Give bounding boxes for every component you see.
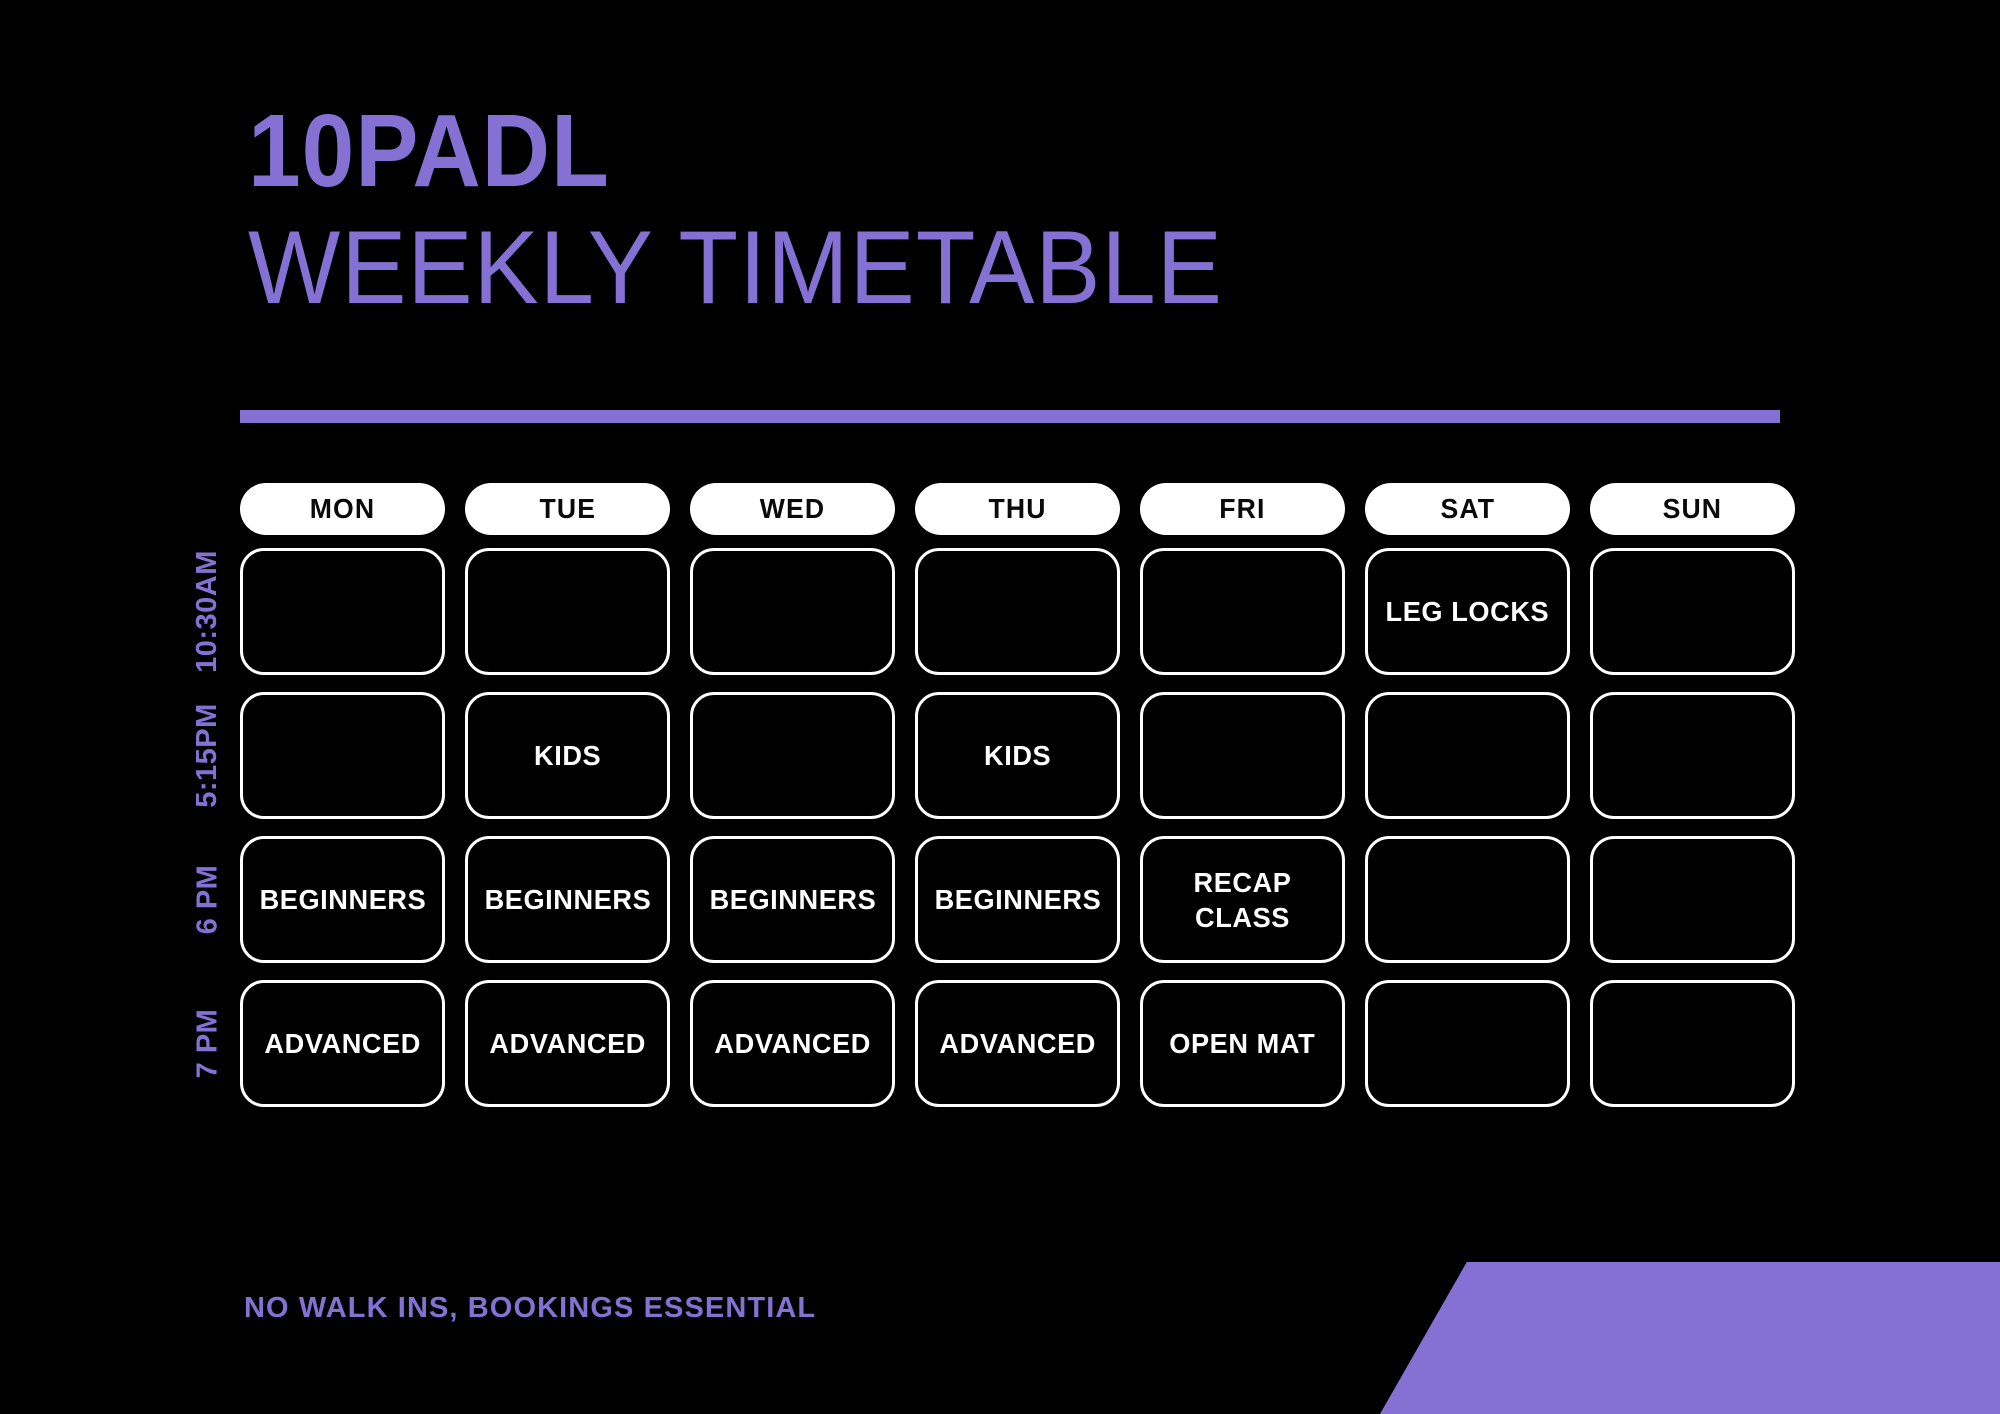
class-slot[interactable]: BEGINNERS (690, 836, 895, 963)
class-slot-label: BEGINNERS (259, 882, 426, 917)
slot-wrap-7pm-sat (1365, 980, 1570, 1107)
class-slot[interactable]: LEG LOCKS (1365, 548, 1570, 675)
day-pill-label-sun: SUN (1663, 493, 1723, 525)
slot-wrap-515pm-sun (1590, 692, 1795, 819)
day-pill-mon[interactable]: MON (240, 483, 445, 535)
day-header-gutter-spacer (175, 483, 240, 535)
class-slot[interactable] (1140, 692, 1345, 819)
class-slot[interactable]: ADVANCED (465, 980, 670, 1107)
time-label-7pm: 7 PM (191, 1009, 224, 1079)
class-slot-label: KIDS (534, 738, 601, 773)
class-slot[interactable]: OPEN MAT (1140, 980, 1345, 1107)
class-slot-label: BEGINNERS (709, 882, 876, 917)
slot-wrap-7pm-mon: ADVANCED (240, 980, 445, 1107)
booking-note: NO WALK INS, BOOKINGS ESSENTIAL (244, 1292, 816, 1325)
class-slot[interactable] (240, 692, 445, 819)
time-gutter-515pm: 5:15PM (175, 692, 240, 819)
day-pill-label-fri: FRI (1219, 493, 1265, 525)
slot-wrap-1030am-sat: LEG LOCKS (1365, 548, 1570, 675)
time-gutter-1030am: 10:30AM (175, 548, 240, 675)
class-slot[interactable] (465, 548, 670, 675)
day-pill-thu[interactable]: THU (915, 483, 1120, 535)
slot-wrap-515pm-tue: KIDS (465, 692, 670, 819)
class-slot[interactable] (1365, 980, 1570, 1107)
day-header-row: MON TUE WED THU (175, 483, 1795, 535)
class-slot-label: BEGINNERS (484, 882, 651, 917)
class-slot[interactable]: BEGINNERS (465, 836, 670, 963)
slot-wrap-7pm-tue: ADVANCED (465, 980, 670, 1107)
slot-wrap-6pm-fri: RECAP CLASS (1140, 836, 1345, 963)
slot-wrap-7pm-sun (1590, 980, 1795, 1107)
day-pill-tue[interactable]: TUE (465, 483, 670, 535)
class-slot[interactable]: KIDS (465, 692, 670, 819)
slot-wrap-6pm-sat (1365, 836, 1570, 963)
class-slot[interactable] (1140, 548, 1345, 675)
timetable-row-7pm: 7 PM ADVANCED ADVANCED ADVANCED (175, 980, 1795, 1107)
day-pill-sat[interactable]: SAT (1365, 483, 1570, 535)
timetable-row-6pm: 6 PM BEGINNERS BEGINNERS BEGINNERS (175, 836, 1795, 963)
slot-wrap-515pm-wed (690, 692, 895, 819)
class-slot[interactable]: BEGINNERS (240, 836, 445, 963)
class-slot[interactable]: BEGINNERS (915, 836, 1120, 963)
slot-wrap-6pm-tue: BEGINNERS (465, 836, 670, 963)
class-slot[interactable] (1590, 980, 1795, 1107)
class-slot-label: RECAP CLASS (1193, 865, 1291, 935)
slot-wrap-6pm-thu: BEGINNERS (915, 836, 1120, 963)
slot-wrap-7pm-wed: ADVANCED (690, 980, 895, 1107)
slot-wrap-7pm-thu: ADVANCED (915, 980, 1120, 1107)
slot-wrap-515pm-sat (1365, 692, 1570, 819)
slot-wrap-7pm-fri: OPEN MAT (1140, 980, 1345, 1107)
day-pill-label-mon: MON (310, 493, 375, 525)
slot-wrap-515pm-mon (240, 692, 445, 819)
class-slot-label: KIDS (984, 738, 1051, 773)
poster-header: 10PADL WEEKLY TIMETABLE (248, 104, 1788, 323)
class-slot[interactable] (1365, 692, 1570, 819)
day-pill-fri[interactable]: FRI (1140, 483, 1345, 535)
day-column-tue: TUE (465, 483, 670, 535)
class-slot-label: LEG LOCKS (1386, 594, 1550, 629)
class-slot[interactable]: ADVANCED (240, 980, 445, 1107)
time-gutter-6pm: 6 PM (175, 836, 240, 963)
day-pill-label-tue: TUE (539, 493, 596, 525)
class-slot[interactable]: RECAP CLASS (1140, 836, 1345, 963)
class-slot-label: ADVANCED (489, 1026, 646, 1061)
timetable-row-515pm: 5:15PM KIDS (175, 692, 1795, 819)
slot-wrap-1030am-sun (1590, 548, 1795, 675)
time-label-6pm: 6 PM (191, 865, 224, 935)
day-pill-label-wed: WED (760, 493, 825, 525)
corner-accent-shape (1380, 1262, 2000, 1414)
timetable-grid: MON TUE WED THU (175, 483, 1795, 1124)
slot-wrap-6pm-wed: BEGINNERS (690, 836, 895, 963)
class-slot-label: ADVANCED (939, 1026, 1096, 1061)
slot-wrap-515pm-fri (1140, 692, 1345, 819)
class-slot-label: BEGINNERS (934, 882, 1101, 917)
slot-wrap-6pm-sun (1590, 836, 1795, 963)
day-column-sun: SUN (1590, 483, 1795, 535)
timetable-row-1030am: 10:30AM (175, 548, 1795, 675)
class-slot[interactable] (1590, 692, 1795, 819)
day-column-thu: THU (915, 483, 1120, 535)
slot-wrap-6pm-mon: BEGINNERS (240, 836, 445, 963)
brand-title: 10PADL (248, 104, 1665, 199)
class-slot-label: ADVANCED (264, 1026, 421, 1061)
class-slot[interactable] (1590, 548, 1795, 675)
day-pill-label-sat: SAT (1440, 493, 1495, 525)
day-pill-wed[interactable]: WED (690, 483, 895, 535)
class-slot[interactable] (690, 548, 895, 675)
class-slot-label: OPEN MAT (1169, 1026, 1315, 1061)
weekly-timetable-poster: 10PADL WEEKLY TIMETABLE MON TUE (0, 0, 2000, 1414)
class-slot[interactable] (1590, 836, 1795, 963)
slot-wrap-1030am-mon (240, 548, 445, 675)
day-column-mon: MON (240, 483, 445, 535)
day-column-fri: FRI (1140, 483, 1345, 535)
class-slot-label: ADVANCED (714, 1026, 871, 1061)
class-slot[interactable] (915, 548, 1120, 675)
day-pill-sun[interactable]: SUN (1590, 483, 1795, 535)
slot-wrap-515pm-thu: KIDS (915, 692, 1120, 819)
slot-wrap-1030am-tue (465, 548, 670, 675)
slot-wrap-1030am-wed (690, 548, 895, 675)
slot-wrap-1030am-fri (1140, 548, 1345, 675)
poster-subtitle: WEEKLY TIMETABLE (248, 213, 1696, 323)
class-slot[interactable]: ADVANCED (690, 980, 895, 1107)
time-label-1030am: 10:30AM (191, 550, 224, 673)
class-slot[interactable] (1365, 836, 1570, 963)
class-slot[interactable] (240, 548, 445, 675)
time-label-515pm: 5:15PM (191, 703, 224, 808)
day-column-sat: SAT (1365, 483, 1570, 535)
class-slot[interactable] (690, 692, 895, 819)
class-slot[interactable]: KIDS (915, 692, 1120, 819)
class-slot[interactable]: ADVANCED (915, 980, 1120, 1107)
header-divider (240, 410, 1780, 423)
time-gutter-7pm: 7 PM (175, 980, 240, 1107)
day-column-wed: WED (690, 483, 895, 535)
slot-wrap-1030am-thu (915, 548, 1120, 675)
day-pill-label-thu: THU (988, 493, 1046, 525)
